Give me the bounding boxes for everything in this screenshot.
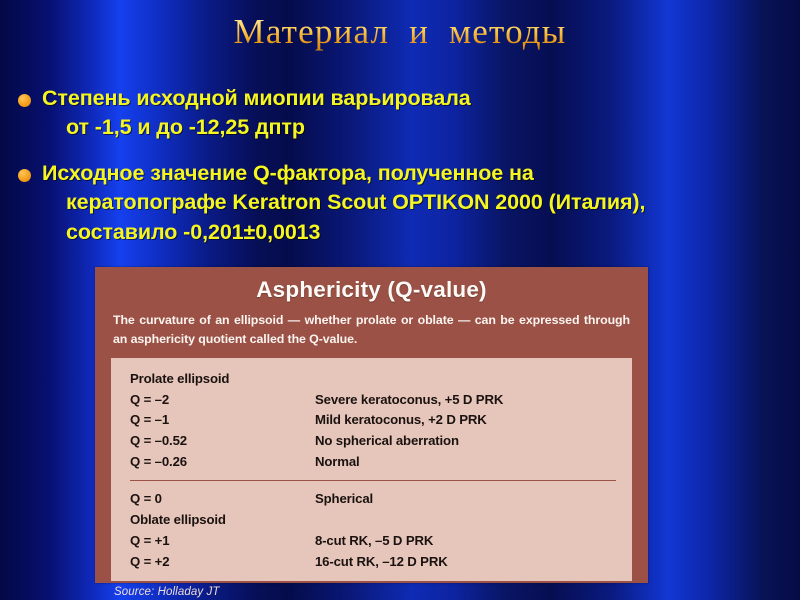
q-value-description: 16-cut RK, –12 D PRK xyxy=(315,552,632,573)
figure-heading: Asphericity (Q-value) xyxy=(111,277,632,303)
table-separator xyxy=(130,480,616,481)
bullet-dot-icon xyxy=(18,169,31,182)
bullet-list: Степень исходной миопии варьировала от -… xyxy=(0,84,790,263)
table-row: Q = 0 Spherical xyxy=(111,489,632,510)
bullet-dot-icon xyxy=(18,94,31,107)
q-value-description: No spherical aberration xyxy=(315,431,632,452)
q-value-label: Q = +1 xyxy=(130,531,315,552)
bullet-1-line-2: от -1,5 и до -12,25 дптр xyxy=(42,113,790,142)
table-row: Q = +2 16-cut RK, –12 D PRK xyxy=(111,552,632,573)
q-value-label: Q = 0 xyxy=(130,489,315,510)
q-value-label: Q = +2 xyxy=(130,552,315,573)
bullet-text-group: Степень исходной миопии варьировала от -… xyxy=(42,84,790,143)
slide-title-container: Материал и методы xyxy=(0,14,800,51)
q-value-description: Severe keratoconus, +5 D PRK xyxy=(315,390,632,411)
bullet-text-group: Исходное значение Q-фактора, полученное … xyxy=(42,159,790,247)
table-row: Q = –1 Mild keratoconus, +2 D PRK xyxy=(111,410,632,431)
table-row: Q = –2 Severe keratoconus, +5 D PRK xyxy=(111,390,632,411)
table-row: Oblate ellipsoid xyxy=(111,510,632,531)
q-value-label: Oblate ellipsoid xyxy=(130,510,315,531)
q-value-description: Spherical xyxy=(315,489,632,510)
q-value-description: Mild keratoconus, +2 D PRK xyxy=(315,410,632,431)
q-value-label: Q = –0.52 xyxy=(130,431,315,452)
q-value-label: Q = –2 xyxy=(130,390,315,411)
q-value-description: 8-cut RK, –5 D PRK xyxy=(315,531,632,552)
q-value-description: Normal xyxy=(315,452,632,473)
q-value-label: Prolate ellipsoid xyxy=(130,369,315,390)
list-item: Степень исходной миопии варьировала от -… xyxy=(0,84,790,143)
table-row: Q = –0.52 No spherical aberration xyxy=(111,431,632,452)
table-row: Prolate ellipsoid xyxy=(111,369,632,390)
bullet-1-line-1: Степень исходной миопии варьировала xyxy=(42,86,471,110)
table-row: Q = +1 8-cut RK, –5 D PRK xyxy=(111,531,632,552)
bullet-2-line-2: кератопографе Keratron Scout OPTIKON 200… xyxy=(42,188,790,217)
list-item: Исходное значение Q-фактора, полученное … xyxy=(0,159,790,247)
presentation-slide: Материал и методы Степень исходной миопи… xyxy=(0,0,800,600)
figure-source-credit: Source: Holladay JT xyxy=(114,586,632,598)
asphericity-figure-panel: Asphericity (Q-value) The curvature of a… xyxy=(95,267,648,583)
q-value-table: Prolate ellipsoid Q = –2 Severe keratoco… xyxy=(111,358,632,582)
bullet-2-line-1: Исходное значение Q-фактора, полученное … xyxy=(42,161,534,185)
table-row: Q = –0.26 Normal xyxy=(111,452,632,473)
q-value-label: Q = –1 xyxy=(130,410,315,431)
figure-intro-text: The curvature of an ellipsoid — whether … xyxy=(113,311,630,349)
q-value-label: Q = –0.26 xyxy=(130,452,315,473)
bullet-2-line-3: составило -0,201±0,0013 xyxy=(42,218,790,247)
page-title: Материал и методы xyxy=(234,14,567,51)
